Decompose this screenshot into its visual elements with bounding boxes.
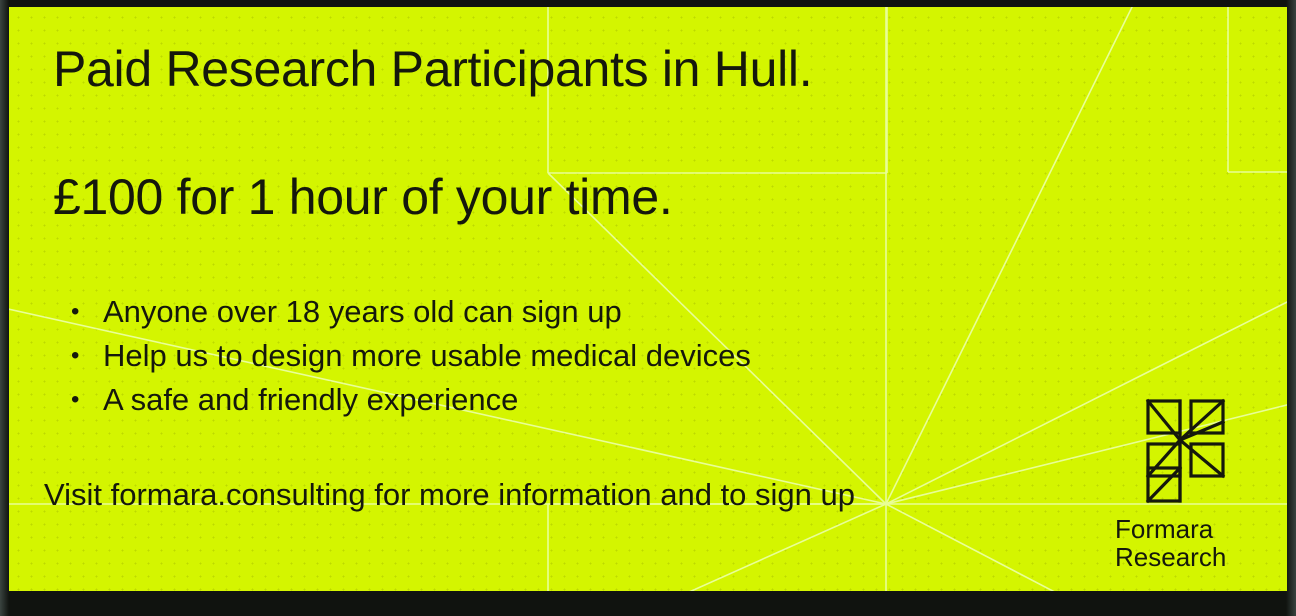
list-item: • Anyone over 18 years old can sign up (55, 290, 751, 334)
list-item-label: Help us to design more usable medical de… (103, 338, 751, 373)
formara-wordmark: Formara Research (1115, 515, 1265, 571)
bullet-dot-icon: • (71, 378, 79, 422)
headline-line-1: Paid Research Participants in Hull. (53, 43, 812, 96)
list-item-label: Anyone over 18 years old can sign up (103, 294, 622, 329)
wordmark-line-2: Research (1115, 543, 1265, 571)
formara-asterisk-f-mark (1143, 397, 1233, 505)
bullet-dot-icon: • (71, 334, 79, 378)
list-item: • A safe and friendly experience (55, 378, 751, 422)
wordmark-line-1: Formara (1115, 515, 1265, 543)
ad-frame: Paid Research Participants in Hull. £100… (0, 0, 1296, 616)
list-item: • Help us to design more usable medical … (55, 334, 751, 378)
list-item-label: A safe and friendly experience (103, 382, 518, 417)
call-to-action-text: Visit formara.consulting for more inform… (44, 473, 855, 517)
poster-canvas: Paid Research Participants in Hull. £100… (9, 7, 1287, 591)
poster-content: Paid Research Participants in Hull. £100… (9, 7, 1287, 591)
formara-logo-lockup: Formara Research (1115, 397, 1265, 571)
headline-line-2: £100 for 1 hour of your time. (53, 171, 672, 224)
bullet-dot-icon: • (71, 290, 79, 334)
benefits-list: • Anyone over 18 years old can sign up •… (55, 290, 751, 422)
